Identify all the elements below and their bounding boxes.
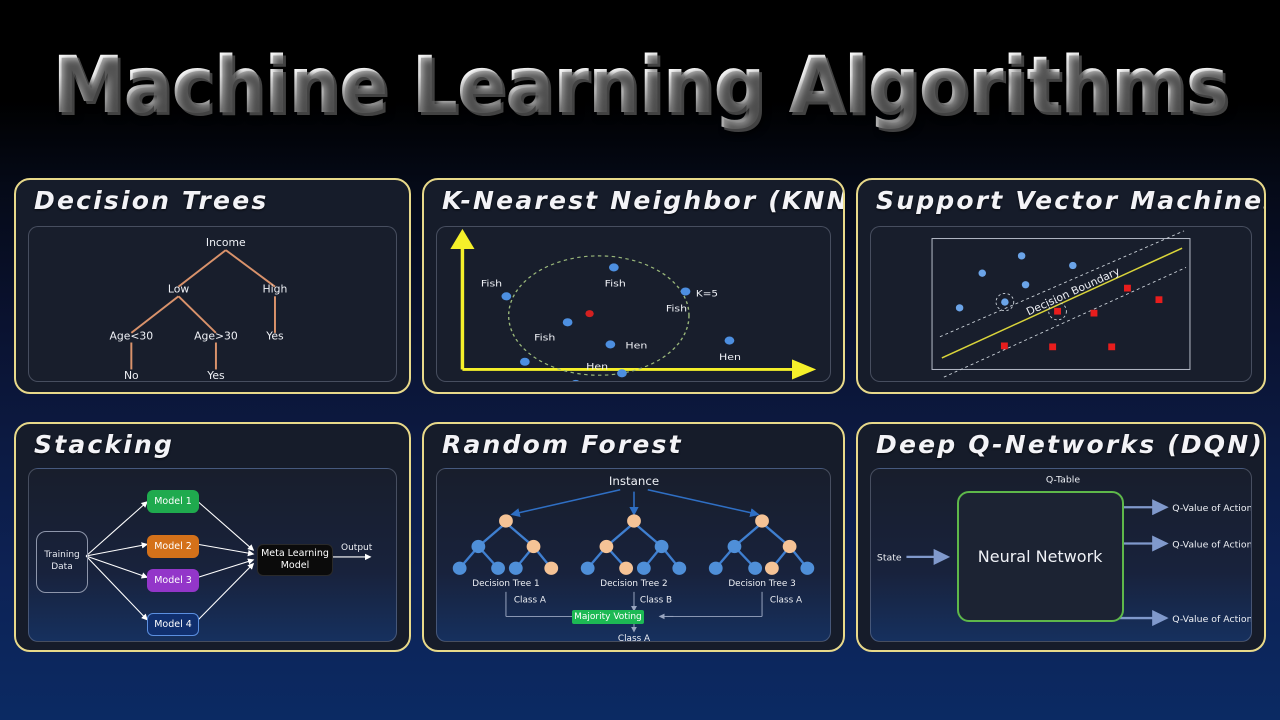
svm-class-blue-point <box>1069 262 1076 269</box>
model-4-label: Model 4 <box>154 619 192 630</box>
panel-svm: Support Vector Machines Decision Boundar… <box>856 178 1266 394</box>
majority-voting-label: Majority Voting <box>574 612 642 622</box>
svm-support-vector-red <box>1054 308 1061 315</box>
page-title-container: Machine Learning Algorithms <box>0 36 1280 136</box>
knn-point-label: Fish <box>534 333 555 343</box>
neural-network-box[interactable]: Neural Network <box>957 491 1124 622</box>
knn-point <box>617 369 627 377</box>
svm-class-blue-point <box>1022 281 1029 288</box>
dqn-canvas: Q-Table State Q-Value of Action1 Q-Value… <box>870 468 1252 642</box>
knn-canvas: K=5 Fish Fish Fish Fish Hen Hen Hen Hen … <box>436 226 831 382</box>
training-data-label: TrainingData <box>44 550 80 573</box>
knn-point-label: Hen <box>719 353 741 363</box>
knn-point-label: Hen <box>586 362 608 372</box>
decision-tree-diagram: Income Low High Age<30 Age>30 Yes No Yes <box>29 227 396 381</box>
slide-canvas: Machine Learning Algorithms Decision Tre… <box>0 0 1280 720</box>
rf-node-blue <box>637 562 651 575</box>
knn-point-label: Fish <box>666 304 687 314</box>
knn-point-label: Fish <box>481 279 502 289</box>
rf-instance-label: Instance <box>609 474 659 488</box>
panel-decision-trees: Decision Trees Income Low High Age<30 Ag… <box>14 178 411 394</box>
svm-diagram: Decision Boundary <box>871 227 1251 381</box>
dqn-output-2: Q-Value of Action2 <box>1172 539 1251 550</box>
panel-title-stacking: Stacking <box>34 430 174 459</box>
knn-point <box>606 340 616 348</box>
knn-diagram: K=5 Fish Fish Fish Fish Hen Hen Hen Hen … <box>437 227 830 381</box>
dt-node-left-left: Age<30 <box>109 330 153 343</box>
panel-random-forest: Random Forest Instance <box>422 422 845 652</box>
rf-node-blue <box>728 540 742 553</box>
stacking-canvas: TrainingData Model 1 Model 2 Model 3 Mod… <box>28 468 397 642</box>
svm-margin-upper <box>940 231 1184 337</box>
rf-node-blue <box>453 562 467 575</box>
model-box-2[interactable]: Model 2 <box>147 535 199 558</box>
rf-node-orange <box>499 514 513 527</box>
rf-node-blue <box>672 562 686 575</box>
rf-node-orange <box>783 540 797 553</box>
rf-class-3: Class A <box>770 595 802 605</box>
svm-class-red-point <box>1156 296 1163 303</box>
svm-class-red-point <box>1001 343 1008 350</box>
rf-class-2: Class B <box>640 595 672 605</box>
svm-margin-lower <box>944 267 1186 377</box>
rf-node-orange <box>544 562 558 575</box>
knn-k-label: K=5 <box>696 289 718 299</box>
panel-knn: K-Nearest Neighbor (KNN) K=5 Fish Fish F… <box>422 178 845 394</box>
panel-title-random-forest: Random Forest <box>442 430 683 459</box>
svm-class-red-point <box>1108 343 1115 350</box>
rf-node-blue <box>800 562 814 575</box>
knn-point <box>725 337 735 345</box>
dt-leaf-no: No <box>124 369 139 381</box>
svm-class-blue-point <box>979 270 986 277</box>
svm-class-red-point <box>1091 310 1098 317</box>
rf-node-blue <box>655 540 669 553</box>
random-forest-canvas: Instance Decision <box>436 468 831 642</box>
decision-trees-canvas: Income Low High Age<30 Age>30 Yes No Yes <box>28 226 397 382</box>
dt-leaf-yes: Yes <box>206 369 225 381</box>
rf-node-orange <box>755 514 769 527</box>
svm-class-blue-point <box>1018 252 1025 259</box>
rf-node-blue <box>471 540 485 553</box>
dt-node-root: Income <box>206 236 246 249</box>
dqn-state-label: State <box>877 553 902 564</box>
knn-point <box>563 318 573 326</box>
svm-class-red-point <box>1049 343 1056 350</box>
panel-title-svm: Support Vector Machines <box>876 186 1266 215</box>
svm-canvas: Decision Boundary <box>870 226 1252 382</box>
knn-point-label: Fish <box>605 279 626 289</box>
svm-boundary-label: Decision Boundary <box>1024 265 1122 319</box>
panel-title-decision-trees: Decision Trees <box>34 186 268 215</box>
dt-node-left: Low <box>168 283 190 296</box>
stacking-output-label: Output <box>341 543 372 553</box>
model-2-label: Model 2 <box>154 541 192 552</box>
knn-query-point <box>585 310 593 317</box>
rf-node-orange <box>527 540 541 553</box>
panel-title-knn: K-Nearest Neighbor (KNN) <box>442 186 845 215</box>
panel-title-dqn: Deep Q-Networks (DQN) <box>876 430 1264 459</box>
rf-node-blue <box>509 562 523 575</box>
model-1-label: Model 1 <box>154 496 192 507</box>
rf-tree-1-label: Decision Tree 1 <box>472 579 539 589</box>
rf-node-blue <box>491 562 505 575</box>
dqn-output-n: Q-Value of ActionN <box>1172 614 1251 625</box>
rf-node-orange <box>619 562 633 575</box>
dt-node-right: High <box>263 283 288 296</box>
meta-model-label: Meta LearningModel <box>261 548 329 572</box>
dt-node-left-right: Age>30 <box>194 330 238 343</box>
model-3-label: Model 3 <box>154 575 192 586</box>
panel-dqn: Deep Q-Networks (DQN) Q-Table State Q-Va… <box>856 422 1266 652</box>
rf-class-1: Class A <box>514 595 546 605</box>
rf-result-label: Class A <box>618 634 650 641</box>
rf-node-orange <box>765 562 779 575</box>
majority-voting-box[interactable]: Majority Voting <box>572 610 644 624</box>
svm-support-vector-blue <box>1001 298 1008 305</box>
dt-leaf-right: Yes <box>265 330 284 343</box>
knn-point <box>501 292 511 300</box>
knn-point <box>571 380 581 381</box>
page-title: Machine Learning Algorithms <box>52 41 1228 131</box>
model-box-4[interactable]: Model 4 <box>147 613 199 636</box>
rf-node-blue <box>581 562 595 575</box>
rf-node-blue <box>709 562 723 575</box>
model-box-3[interactable]: Model 3 <box>147 569 199 592</box>
training-data-box: TrainingData <box>36 531 88 593</box>
knn-point <box>681 287 691 295</box>
knn-point-label: Hen <box>625 341 647 351</box>
rf-tree-2-label: Decision Tree 2 <box>600 579 667 589</box>
rf-node-orange <box>600 540 614 553</box>
dqn-qtable-label: Q-Table <box>1046 474 1081 485</box>
svm-class-blue-point <box>956 304 963 311</box>
knn-neighborhood-circle <box>509 256 689 375</box>
panel-stacking: Stacking <box>14 422 411 652</box>
model-box-1[interactable]: Model 1 <box>147 490 199 513</box>
knn-point <box>609 263 619 271</box>
rf-tree-3-label: Decision Tree 3 <box>728 579 795 589</box>
svm-class-red-point <box>1124 285 1131 292</box>
neural-network-label: Neural Network <box>978 547 1103 566</box>
knn-point <box>520 358 530 366</box>
rf-node-blue <box>748 562 762 575</box>
meta-learning-model-box[interactable]: Meta LearningModel <box>257 544 333 576</box>
dqn-output-1: Q-Value of Action1 <box>1172 503 1251 514</box>
rf-node-orange <box>627 514 641 527</box>
